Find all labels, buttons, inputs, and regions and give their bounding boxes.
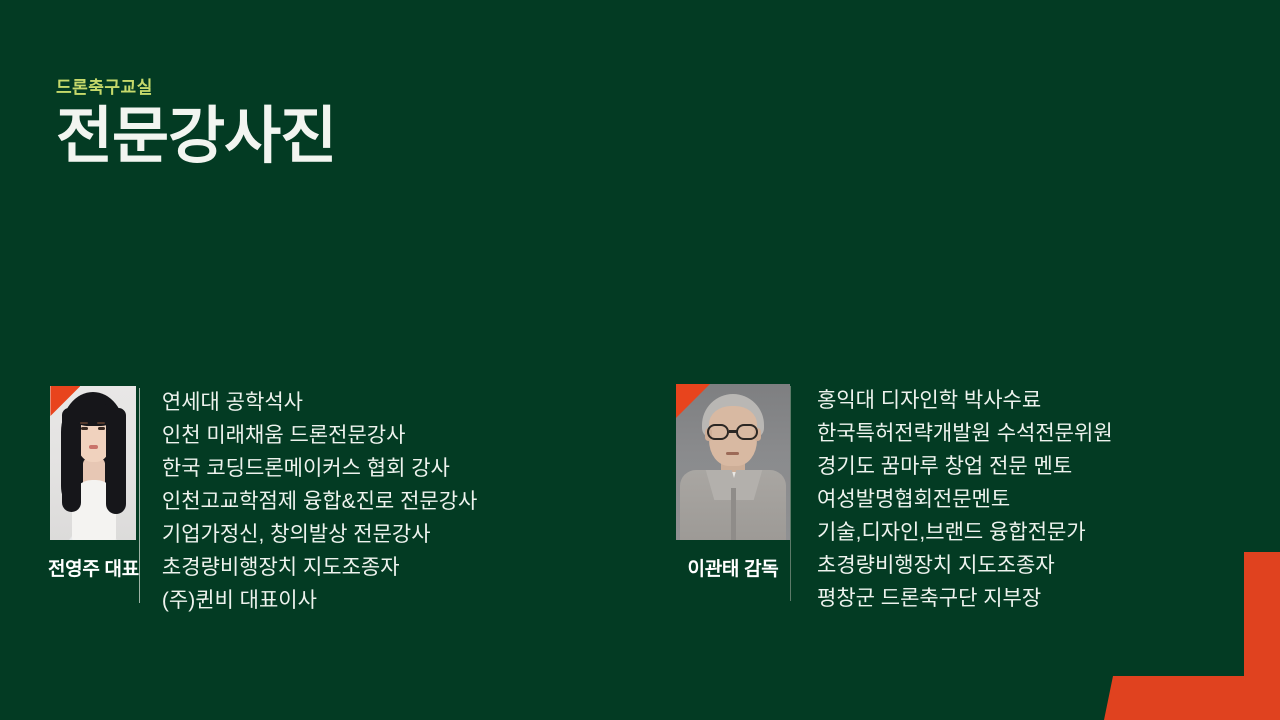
list-item: 인천 미래채움 드론전문강사 — [162, 419, 477, 452]
avatar — [50, 386, 136, 540]
instructor-identity-1: 이관태 감독 — [676, 384, 790, 581]
list-item: 평창군 드론축구단 지부장 — [817, 582, 1113, 615]
slide-header: 드론축구교실 전문강사진 — [56, 78, 756, 169]
list-item: 초경량비행장치 지도조종자 — [162, 551, 477, 584]
avatar — [676, 384, 790, 540]
red-accent-horizontal-bar — [1104, 676, 1280, 720]
list-item: 기업가정신, 창의발상 전문강사 — [162, 518, 477, 551]
instructor-identity-0: 전영주 대표 — [48, 386, 139, 581]
glasses-icon — [706, 424, 760, 440]
mouth-shape — [89, 445, 98, 449]
page-title: 전문강사진 — [56, 104, 756, 169]
slide-eyebrow: 드론축구교실 — [56, 78, 756, 98]
lens-left — [707, 424, 729, 440]
list-item: (주)퀸비 대표이사 — [162, 584, 477, 617]
instructor-card-1: 이관태 감독 홍익대 디자인학 박사수료 한국특허전략개발원 수석전문위원 경기… — [676, 384, 1113, 615]
eye-right — [98, 427, 105, 430]
mouth-shape — [726, 452, 739, 455]
list-item: 연세대 공학석사 — [162, 386, 477, 419]
eye-left — [81, 427, 88, 430]
list-item: 홍익대 디자인학 박사수료 — [817, 384, 1113, 417]
list-item: 초경량비행장치 지도조종자 — [817, 549, 1113, 582]
list-item: 한국 코딩드론메이커스 협회 강사 — [162, 452, 477, 485]
list-item: 여성발명협회전문멘토 — [817, 483, 1113, 516]
hair-right-strand — [106, 408, 126, 514]
presentation-slide: 드론축구교실 전문강사진 전영주 대표 — [0, 0, 1280, 720]
list-item: 기술,디자인,브랜드 융합전문가 — [817, 516, 1113, 549]
credential-list-0: 연세대 공학석사 인천 미래채움 드론전문강사 한국 코딩드론메이커스 협회 강… — [140, 386, 477, 617]
lens-right — [736, 424, 758, 440]
shirt-placket — [731, 488, 736, 540]
list-item: 경기도 꿈마루 창업 전문 멘토 — [817, 450, 1113, 483]
eyebrow-right — [97, 422, 105, 424]
list-item: 인천고교학점제 융합&진로 전문강사 — [162, 485, 477, 518]
instructor-name-1: 이관태 감독 — [688, 554, 779, 581]
instructor-card-0: 전영주 대표 연세대 공학석사 인천 미래채움 드론전문강사 한국 코딩드론메이… — [48, 386, 477, 617]
instructor-name-0: 전영주 대표 — [48, 554, 139, 581]
credential-list-1: 홍익대 디자인학 박사수료 한국특허전략개발원 수석전문위원 경기도 꿈마루 창… — [791, 384, 1113, 615]
list-item: 한국특허전략개발원 수석전문위원 — [817, 417, 1113, 450]
eyebrow-left — [80, 422, 88, 424]
